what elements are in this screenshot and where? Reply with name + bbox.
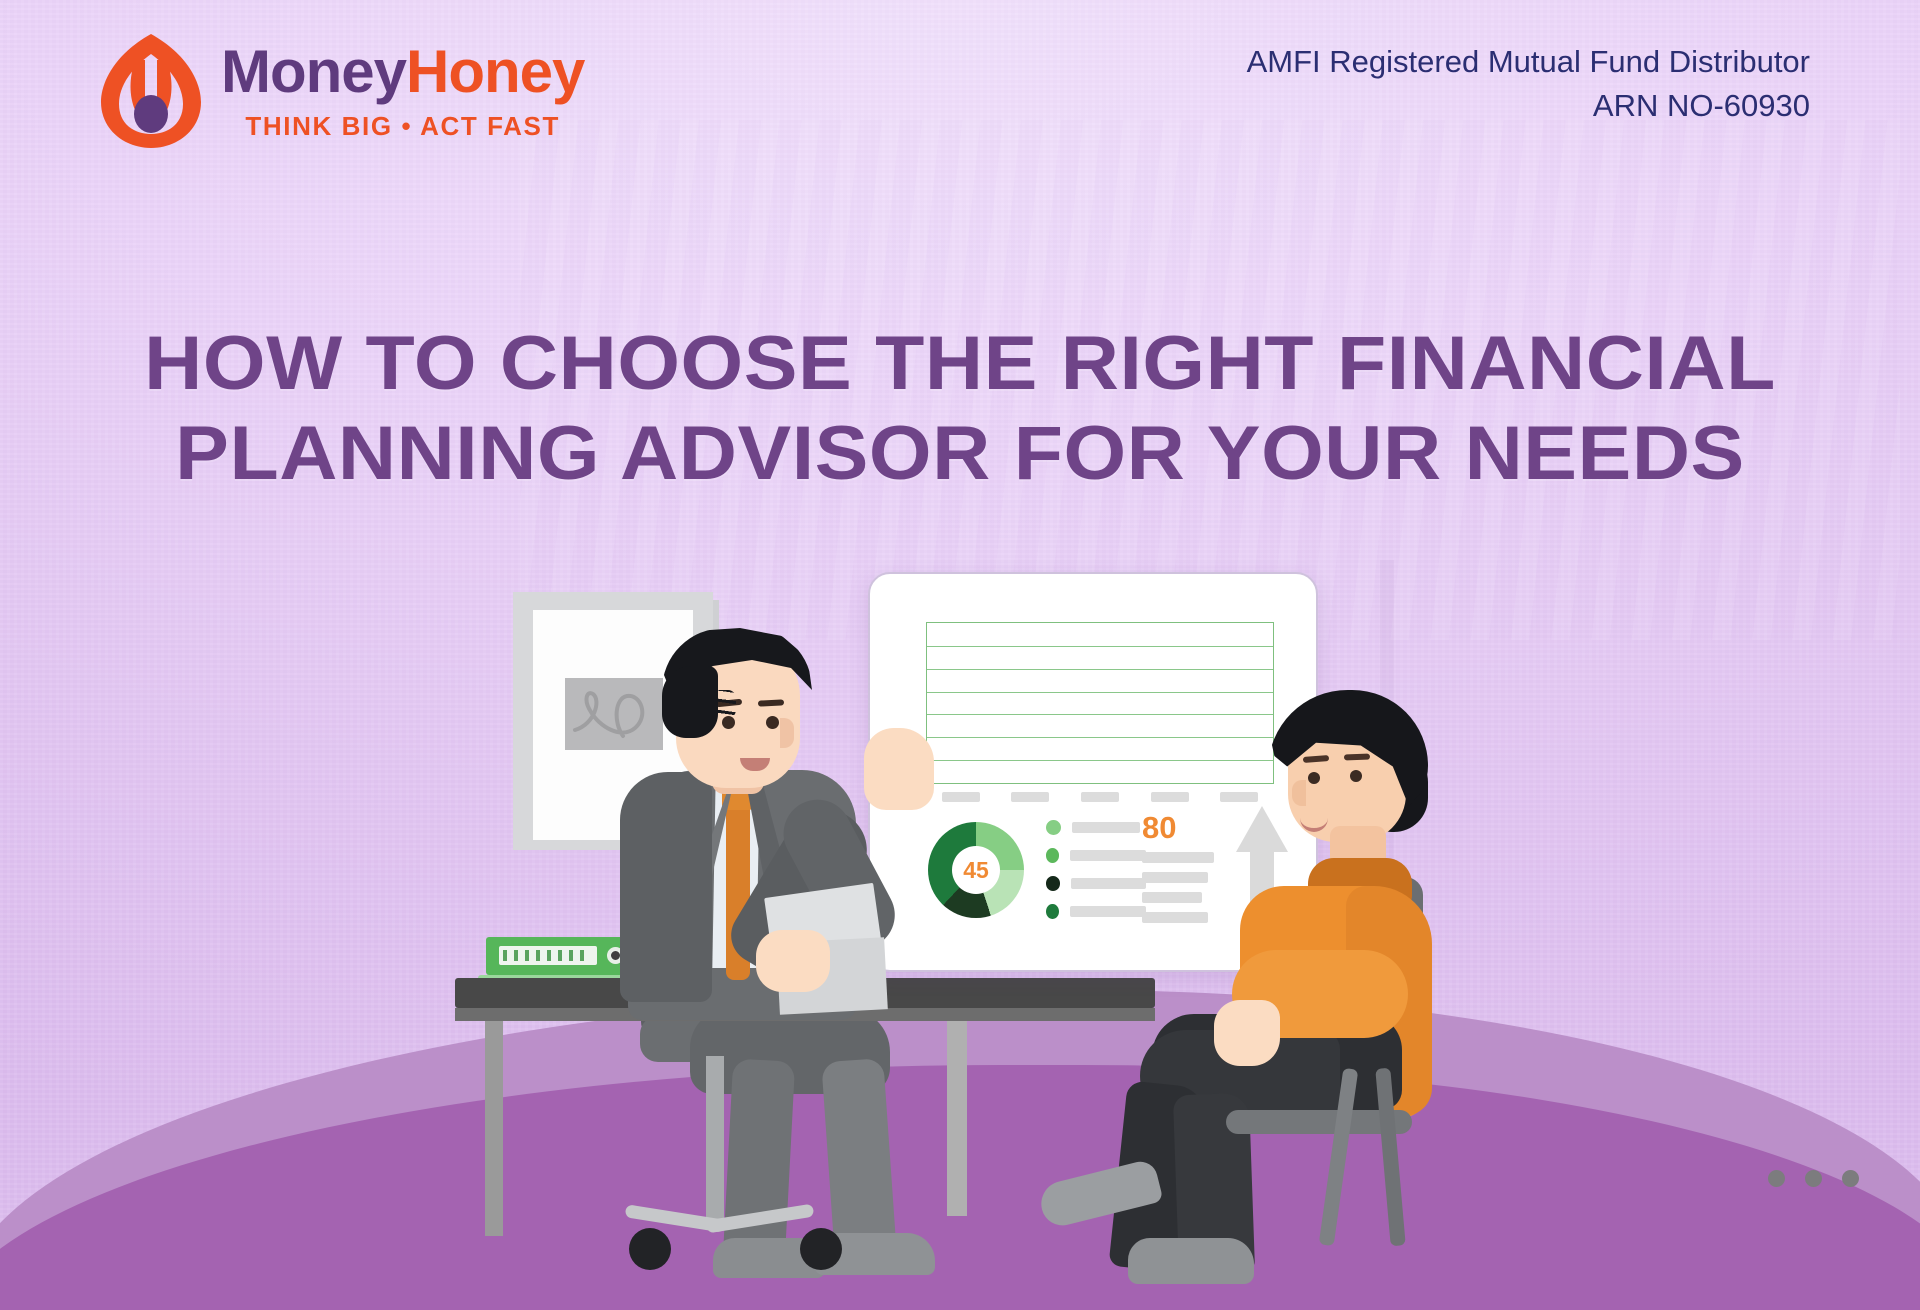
legend-dot-icon bbox=[1046, 876, 1060, 891]
legend-dot-icon bbox=[1046, 904, 1059, 919]
window-control-dots bbox=[1768, 1170, 1859, 1187]
donut-center-value: 45 bbox=[952, 846, 1000, 894]
advisor-hair-strands bbox=[676, 690, 736, 718]
chart-bars bbox=[927, 623, 1273, 783]
kpi-value: 80 bbox=[1142, 812, 1222, 843]
chart-x-label bbox=[1011, 792, 1049, 802]
legend-placeholder-bar bbox=[1070, 906, 1146, 917]
legend-row bbox=[1046, 820, 1146, 835]
illustration-scene: 45 80 bbox=[0, 0, 1920, 1310]
kpi-placeholder-bar bbox=[1142, 892, 1202, 903]
legend-placeholder-bar bbox=[1072, 822, 1140, 833]
donut-legend bbox=[1046, 820, 1146, 932]
client-eye-right bbox=[1350, 770, 1362, 782]
legend-dot-icon bbox=[1046, 848, 1059, 863]
client-eyebrow-right bbox=[1344, 754, 1370, 761]
advisor-hand-holding-document bbox=[756, 930, 830, 992]
advisor-raised-hand bbox=[864, 728, 934, 810]
kpi-placeholder-bars bbox=[1142, 852, 1222, 923]
office-chair-wheel-right bbox=[800, 1228, 842, 1270]
framed-abstract-scribble-art bbox=[565, 678, 663, 750]
advisor-eye-right bbox=[766, 716, 779, 729]
legend-dot-icon bbox=[1046, 820, 1061, 835]
desk-leg-left bbox=[485, 1021, 503, 1236]
office-chair-wheel-left bbox=[629, 1228, 671, 1270]
client-eye-left bbox=[1308, 772, 1320, 784]
advisor-shoulder bbox=[620, 772, 712, 1002]
advisor-nose bbox=[780, 718, 794, 748]
legend-placeholder-bar bbox=[1070, 850, 1146, 861]
client-hand bbox=[1214, 1000, 1280, 1066]
chart-x-label bbox=[942, 792, 980, 802]
chart-x-label bbox=[1220, 792, 1258, 802]
chart-x-label bbox=[1081, 792, 1119, 802]
arrow-head bbox=[1236, 806, 1288, 852]
legend-placeholder-bar bbox=[1071, 878, 1146, 889]
window-dot-3[interactable] bbox=[1842, 1170, 1859, 1187]
kpi-placeholder-bar bbox=[1142, 852, 1214, 863]
legend-row bbox=[1046, 904, 1146, 919]
window-dot-1[interactable] bbox=[1768, 1170, 1785, 1187]
window-dot-2[interactable] bbox=[1805, 1170, 1822, 1187]
kpi-block: 80 bbox=[1142, 812, 1222, 932]
kpi-placeholder-bar bbox=[1142, 872, 1208, 883]
desk-leg-right bbox=[947, 1021, 967, 1216]
kpi-placeholder-bar bbox=[1142, 912, 1208, 923]
chart-x-label bbox=[1151, 792, 1189, 802]
banner-root: MoneyHoney THINK BIG • ACT FAST AMFI Reg… bbox=[0, 0, 1920, 1310]
client-shoe-back bbox=[1128, 1238, 1254, 1284]
advisor-shin-right bbox=[821, 1058, 896, 1257]
binder-spine-ticks bbox=[503, 950, 589, 961]
office-chair-post bbox=[706, 1056, 724, 1224]
bar-chart bbox=[926, 622, 1274, 784]
advisor-shin-left bbox=[723, 1059, 795, 1262]
legend-row bbox=[1046, 848, 1146, 863]
chart-x-axis-labels bbox=[926, 792, 1274, 802]
client-nose bbox=[1292, 780, 1306, 806]
legend-row bbox=[1046, 876, 1146, 891]
